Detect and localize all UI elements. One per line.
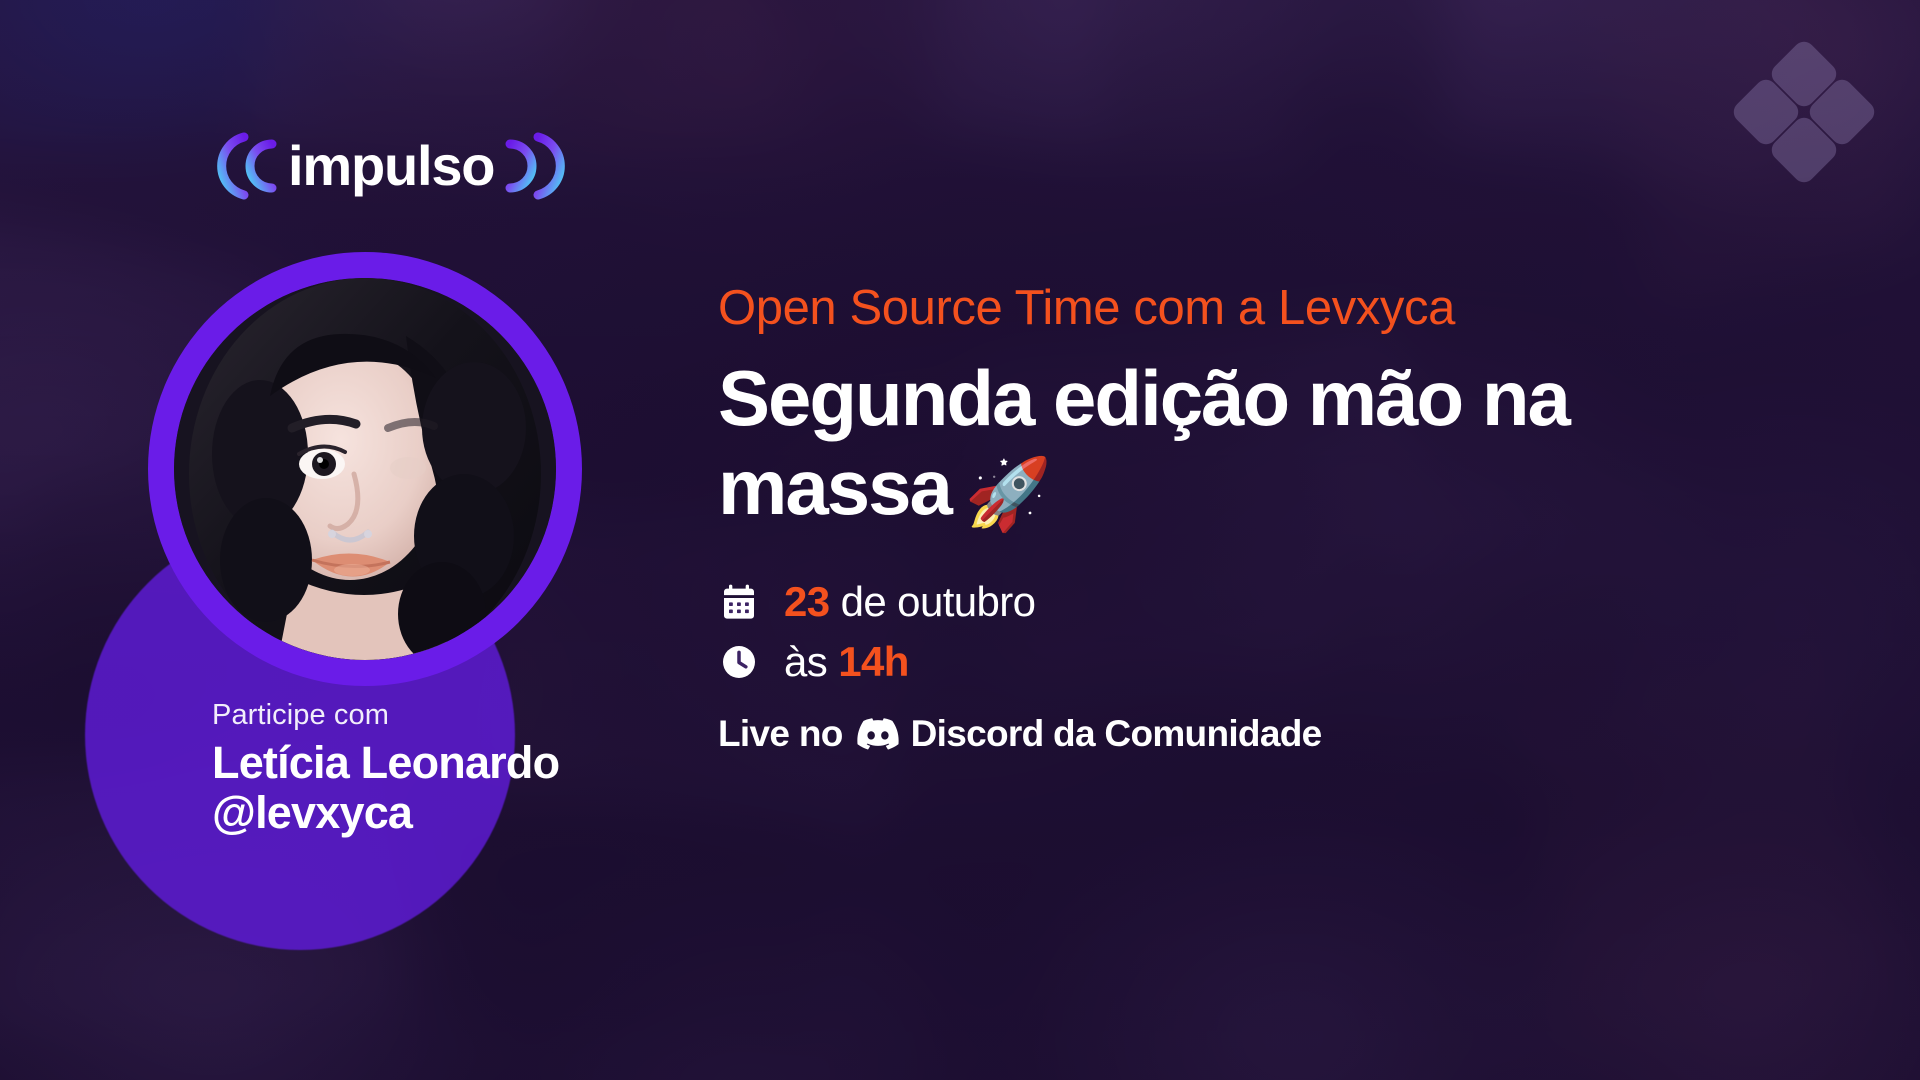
speaker-kicker: Participe com: [212, 700, 732, 732]
event-time-text: às 14h: [784, 641, 909, 683]
headline-text: Segunda edição mão na massa: [718, 354, 1569, 531]
logo-wordmark: impulso: [288, 138, 494, 194]
calendar-icon: [718, 581, 760, 623]
event-details: Open Source Time com a Levxyca Segunda e…: [718, 282, 1838, 755]
sound-wave-arcs-left-icon: [214, 131, 280, 201]
speaker-handle: @levxyca: [212, 788, 732, 838]
event-date-row: 23 de outubro: [718, 581, 1838, 623]
four-diamonds-icon: [1740, 48, 1868, 176]
sound-wave-arcs-right-icon: [502, 131, 568, 201]
event-date-day: 23: [784, 578, 830, 625]
event-banner: impulso: [0, 0, 1920, 1080]
impulso-logo: impulso: [214, 130, 568, 202]
rocket-icon: 🚀: [965, 455, 1050, 533]
event-time-value: 14h: [838, 638, 909, 685]
event-date-text: 23 de outubro: [784, 581, 1035, 623]
event-time-prefix: às: [784, 638, 838, 685]
event-series-title: Open Source Time com a Levxyca: [718, 282, 1838, 336]
speaker-avatar-portrait: [174, 278, 556, 660]
discord-icon: [857, 718, 899, 750]
live-prefix: Live no: [718, 713, 843, 755]
page-title: Segunda edição mão na massa🚀: [718, 354, 1798, 535]
event-date-month: de outubro: [830, 578, 1036, 625]
speaker-credit-block: Participe com Letícia Leonardo @levxyca: [212, 700, 732, 839]
event-meta: 23 de outubro às 14h: [718, 581, 1838, 683]
live-suffix: Discord da Comunidade: [911, 713, 1322, 755]
avatar: [148, 252, 582, 686]
clock-icon: [718, 641, 760, 683]
speaker-name: Letícia Leonardo: [212, 738, 732, 788]
live-platform-row: Live no Discord da Comunidade: [718, 713, 1838, 755]
event-time-row: às 14h: [718, 641, 1838, 683]
